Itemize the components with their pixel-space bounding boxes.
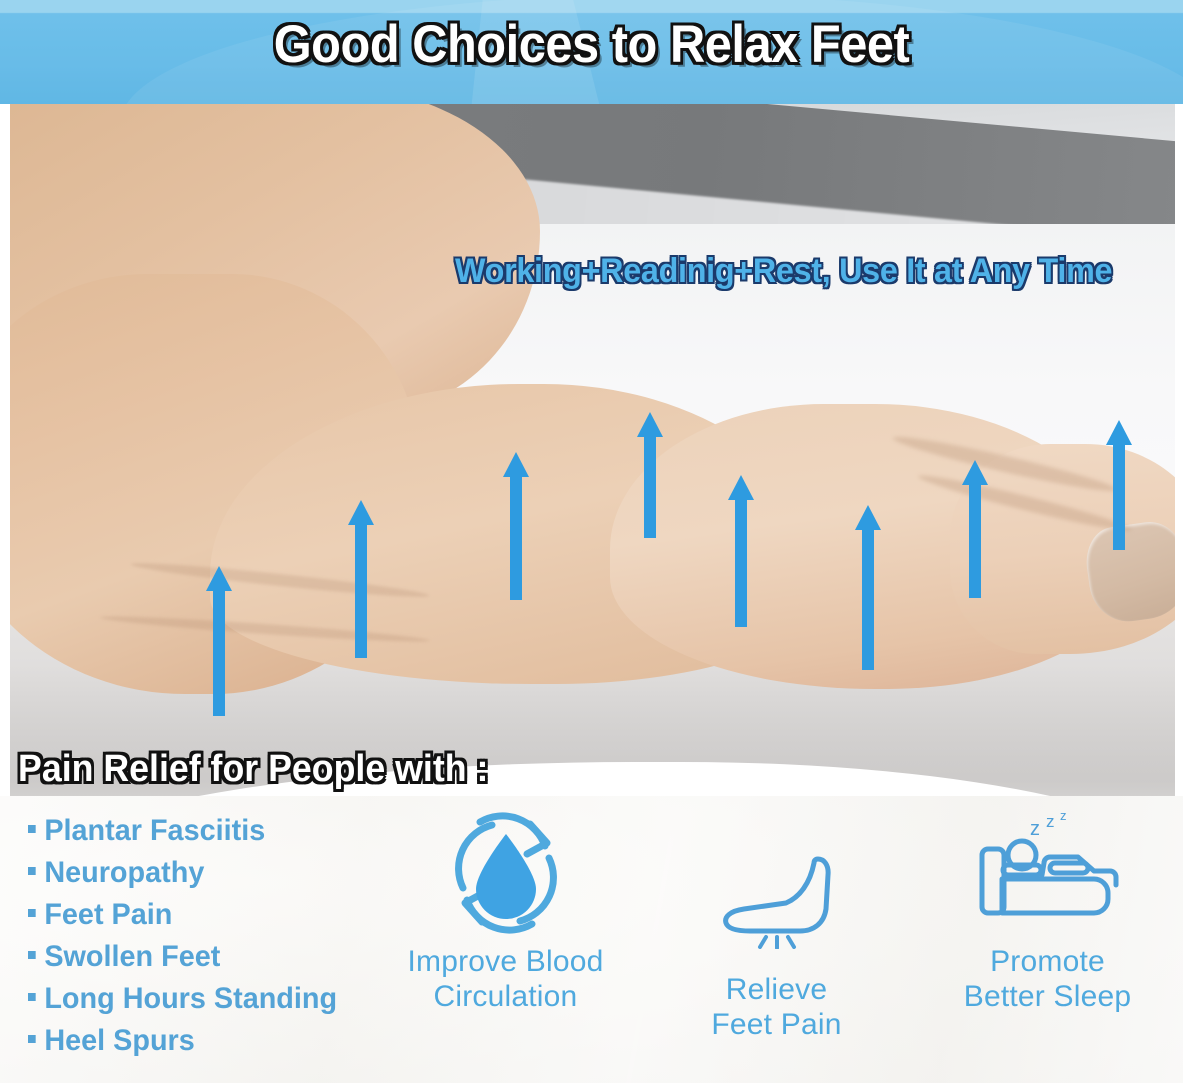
pressure-arrow-icon (503, 452, 529, 600)
product-photo-canvas (10, 104, 1175, 796)
benefit-improve-blood-circulation: Improve Blood Circulation (376, 808, 636, 1015)
pressure-arrow-icon (855, 505, 881, 670)
sleeping-person-bed-icon: z z z (972, 808, 1124, 938)
pressure-arrow-icon (637, 412, 663, 538)
product-photo: Working+Readinig+Rest, Use It at Any Tim… (0, 104, 1183, 796)
foot-relief-icon (714, 836, 840, 966)
benefit-caption-line1: Improve Blood (407, 944, 603, 979)
water-drop-circulation-icon (440, 808, 572, 938)
bullet-dot-icon (28, 825, 36, 833)
svg-text:z: z (1060, 809, 1067, 823)
condition-label: Swollen Feet (44, 936, 220, 978)
pressure-arrow-icon (206, 566, 232, 716)
benefit-caption: Improve Blood Circulation (407, 944, 603, 1015)
condition-list-item: Plantar Fasciitis (28, 810, 354, 852)
benefit-caption-line1: Relieve (711, 972, 841, 1007)
pressure-arrow-icon (348, 500, 374, 658)
benefit-caption-line2: Circulation (407, 979, 603, 1014)
benefit-caption-line2: Better Sleep (964, 979, 1132, 1014)
bullet-dot-icon (28, 1035, 36, 1043)
product-infographic: Good Choices to Relax Feet (0, 0, 1183, 1083)
bullet-dot-icon (28, 909, 36, 917)
condition-list-item: Feet Pain (28, 894, 354, 936)
condition-label: Plantar Fasciitis (44, 810, 265, 852)
condition-list: Plantar FasciitisNeuropathyFeet PainSwol… (28, 810, 368, 1062)
photo-subtitle: Working+Readinig+Rest, Use It at Any Tim… (455, 252, 1147, 291)
bullet-dot-icon (28, 867, 36, 875)
condition-label: Long Hours Standing (44, 978, 337, 1020)
benefit-promote-better-sleep: z z z Promote Better Sleep (918, 808, 1178, 1015)
condition-list-item: Neuropathy (28, 852, 354, 894)
condition-list-item: Long Hours Standing (28, 978, 354, 1020)
pressure-arrow-icon (728, 475, 754, 627)
condition-label: Neuropathy (44, 852, 204, 894)
condition-list-item: Heel Spurs (28, 1020, 354, 1062)
benefits-panel: Plantar FasciitisNeuropathyFeet PainSwol… (0, 796, 1183, 1083)
benefit-icons-row: Improve Blood Circulation Relieve Feet (370, 806, 1183, 1076)
page-title: Good Choices to Relax Feet (47, 14, 1135, 75)
condition-list-item: Swollen Feet (28, 936, 354, 978)
benefit-relieve-feet-pain: Relieve Feet Pain (647, 836, 907, 1043)
bullet-dot-icon (28, 951, 36, 959)
benefit-caption: Promote Better Sleep (964, 944, 1132, 1015)
benefit-caption-line2: Feet Pain (711, 1007, 841, 1042)
svg-text:z: z (1046, 812, 1055, 831)
pressure-arrow-icon (962, 460, 988, 598)
header-banner: Good Choices to Relax Feet (0, 0, 1183, 104)
svg-text:z: z (1030, 818, 1040, 840)
pressure-arrow-icon (1106, 420, 1132, 550)
bullet-dot-icon (28, 993, 36, 1001)
benefit-caption: Relieve Feet Pain (711, 972, 841, 1043)
benefit-caption-line1: Promote (964, 944, 1132, 979)
pain-relief-heading: Pain Relief for People with : (18, 748, 488, 791)
condition-label: Heel Spurs (44, 1020, 194, 1062)
condition-label: Feet Pain (44, 894, 172, 936)
